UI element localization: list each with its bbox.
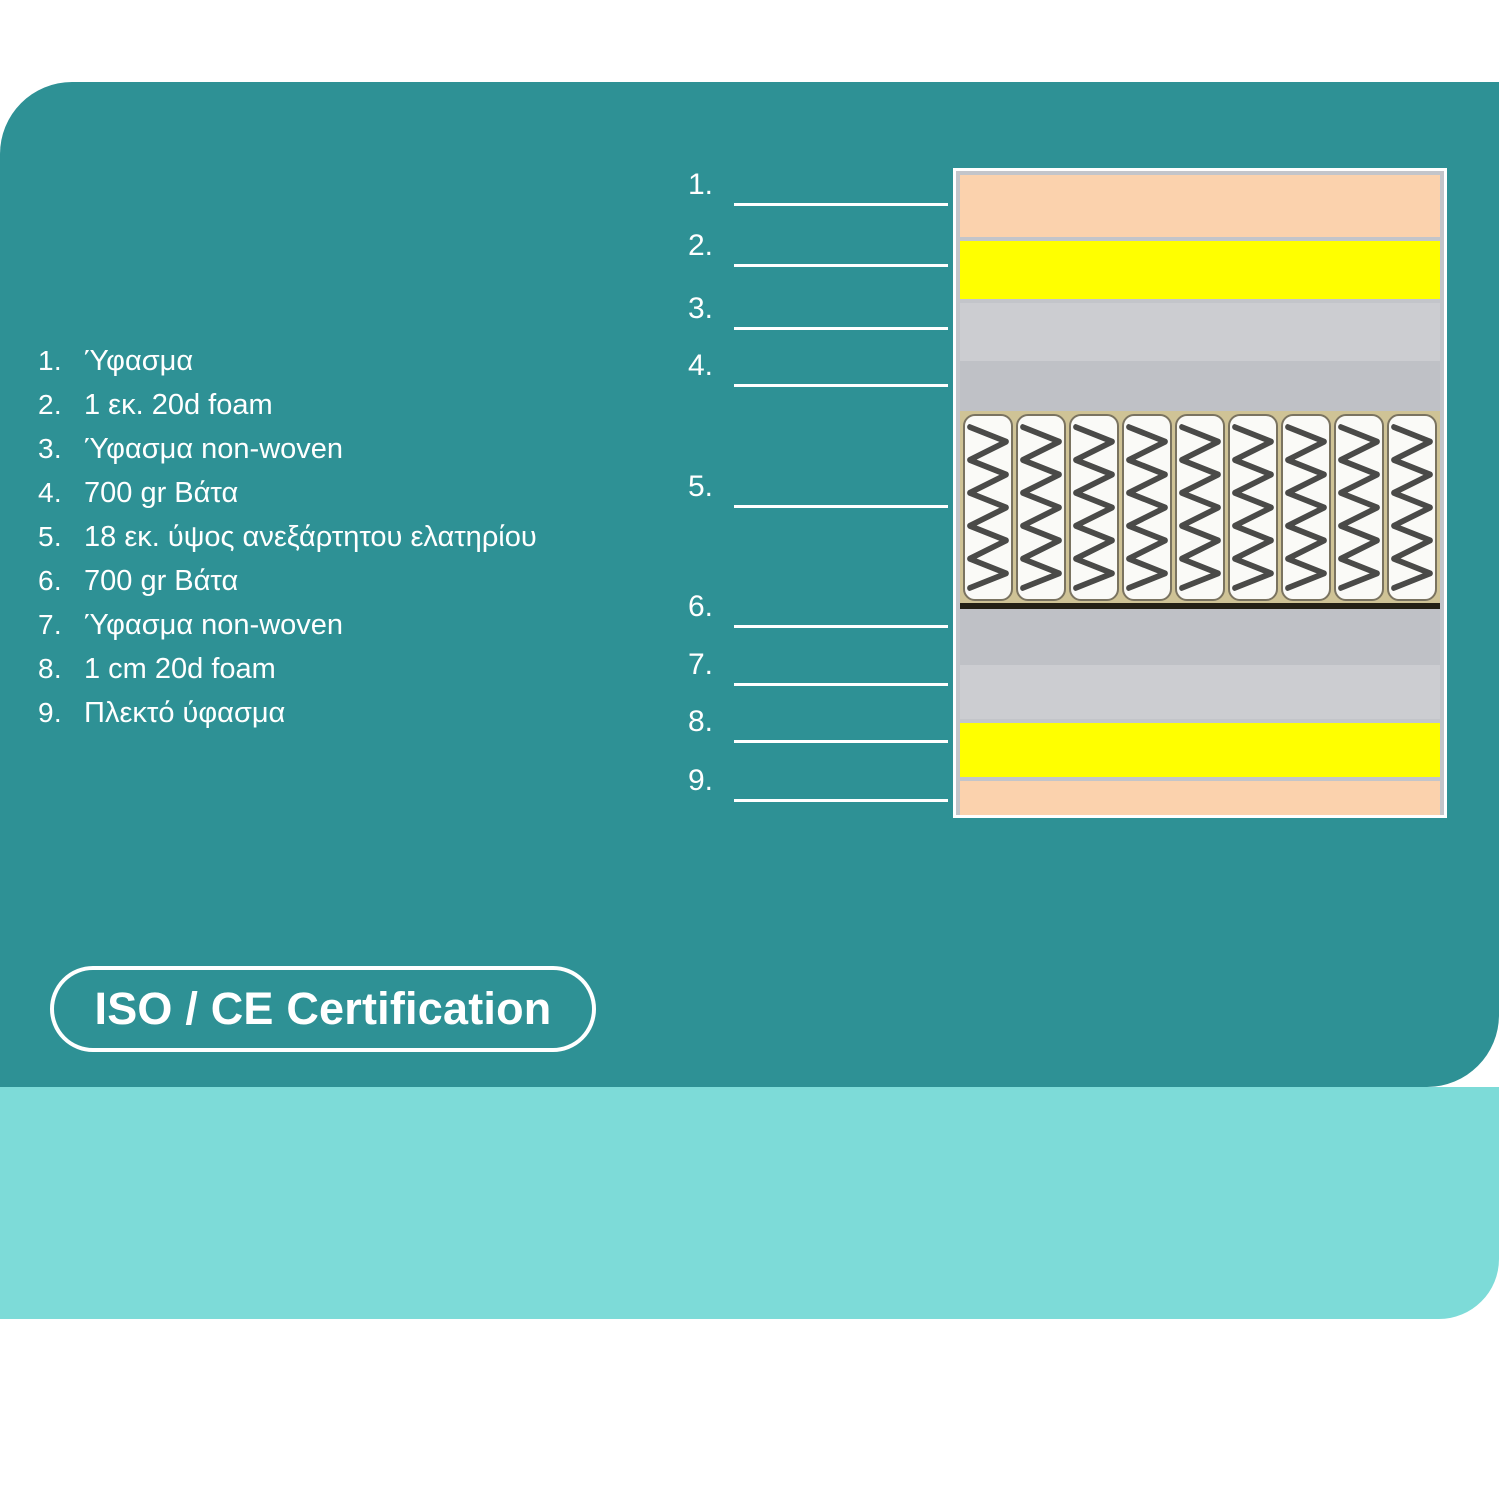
- pocket-spring-icon: [1387, 414, 1437, 601]
- legend-item: 6.700 gr Βάτα: [38, 565, 658, 598]
- mattress-cross-section-diagram: [953, 168, 1447, 818]
- pocket-spring-icon: [1281, 414, 1331, 601]
- mattress-layer-top-foam-20d: [960, 241, 1440, 299]
- pocket-spring-icon: [1175, 414, 1225, 601]
- legend-item: 5.18 εκ. ύψος ανεξάρτητου ελατηρίου: [38, 521, 658, 554]
- legend-item-number: 3.: [38, 433, 84, 465]
- legend-item: 3.Ύφασμα non-woven: [38, 433, 658, 466]
- legend-item-number: 6.: [38, 565, 84, 597]
- legend-item-number: 7.: [38, 609, 84, 641]
- legend-item: 7.Ύφασμα non-woven: [38, 609, 658, 642]
- legend-item: 2.1 εκ. 20d foam: [38, 389, 658, 422]
- mattress-layer-top-non-woven: [960, 303, 1440, 361]
- legend-item: 4.700 gr Βάτα: [38, 477, 658, 510]
- mattress-layer-bottom-non-woven: [960, 665, 1440, 719]
- mattress-layer-bottom-wadding-700gr: [960, 609, 1440, 665]
- legend-item-number: 1.: [38, 345, 84, 377]
- legend-item: 9.Πλεκτό ύφασμα: [38, 697, 658, 730]
- legend-item-number: 8.: [38, 653, 84, 685]
- legend-item: 1.Ύφασμα: [38, 345, 658, 378]
- pocket-spring-icon: [1069, 414, 1119, 601]
- pocket-spring-icon: [963, 414, 1013, 601]
- pocket-spring-row: [963, 414, 1437, 601]
- pocket-spring-layer: [960, 411, 1440, 609]
- mattress-layer-top-wadding-700gr: [960, 361, 1440, 411]
- iso-ce-certification-label: ISO / CE Certification: [95, 983, 552, 1035]
- layer-legend-list: 1.Ύφασμα2.1 εκ. 20d foam3.Ύφασμα non-wov…: [38, 345, 658, 741]
- pocket-spring-icon: [1228, 414, 1278, 601]
- legend-item-label: Πλεκτό ύφασμα: [84, 697, 285, 730]
- legend-item-label: 18 εκ. ύψος ανεξάρτητου ελατηρίου: [84, 521, 537, 554]
- iso-ce-certification-badge[interactable]: ISO / CE Certification: [50, 966, 596, 1052]
- light-teal-accent-band: [0, 1087, 1499, 1319]
- legend-item-label: 1 εκ. 20d foam: [84, 389, 273, 422]
- legend-item-label: Ύφασμα non-woven: [84, 609, 343, 642]
- legend-item-label: Ύφασμα non-woven: [84, 433, 343, 466]
- mattress-layer-bottom-foam-20d: [960, 723, 1440, 777]
- pocket-spring-base-line: [960, 603, 1440, 609]
- pocket-spring-icon: [1016, 414, 1066, 601]
- legend-item-number: 2.: [38, 389, 84, 421]
- legend-item-label: 700 gr Βάτα: [84, 477, 238, 510]
- pocket-spring-icon: [1122, 414, 1172, 601]
- legend-item-label: 700 gr Βάτα: [84, 565, 238, 598]
- legend-item: 8.1 cm 20d foam: [38, 653, 658, 686]
- legend-item-label: Ύφασμα: [84, 345, 193, 378]
- mattress-layer-bottom-fabric: [960, 781, 1440, 818]
- legend-item-label: 1 cm 20d foam: [84, 653, 276, 686]
- legend-item-number: 4.: [38, 477, 84, 509]
- legend-item-number: 5.: [38, 521, 84, 553]
- legend-item-number: 9.: [38, 697, 84, 729]
- mattress-layer-top-fabric: [960, 175, 1440, 237]
- pocket-spring-icon: [1334, 414, 1384, 601]
